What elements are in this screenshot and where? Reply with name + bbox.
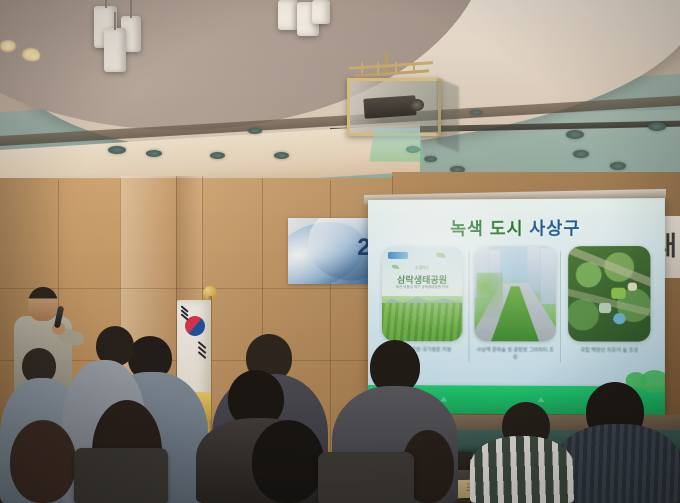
pendant-rod <box>105 0 107 8</box>
projector-rung <box>413 62 415 74</box>
card-facility-lot <box>599 303 611 313</box>
recessed-downlight <box>146 150 162 157</box>
pendant-cylinder-light <box>312 0 330 24</box>
projector-assembly <box>341 60 441 132</box>
pendant-cylinder-light <box>278 0 298 30</box>
slide-card-row: 소생하는 삼락생태공원 부산 낙동강 하구 삼락생태공원 안내 <box>382 246 650 346</box>
slide-title: 녹색 도시 사상구 <box>368 213 665 240</box>
card-logo-bar <box>388 252 408 259</box>
wall-panel-seam <box>0 288 392 289</box>
grass-tuft-icon <box>538 397 545 402</box>
projector-shadow <box>437 78 459 153</box>
slide-title-dark: 사상구 <box>524 219 581 238</box>
photo-scene: 20 대 녹색 도시 사상구 소생하는 삼락생태공원 부산 낙동강 하 <box>0 0 680 503</box>
projector-rung <box>361 62 363 74</box>
slide-card-forest-masterplan <box>568 246 650 342</box>
audience-shoulder <box>556 424 680 503</box>
card-caption: 국립 백양산 치유의 숲 조성 <box>568 348 650 375</box>
chair-back <box>74 448 168 503</box>
recessed-downlight <box>210 152 225 159</box>
recessed-downlight <box>274 152 289 159</box>
pendant-cylinder-light <box>104 28 126 72</box>
chair-back <box>318 452 414 503</box>
recessed-downlight <box>648 122 666 131</box>
recessed-downlight <box>248 128 262 134</box>
recessed-downlight <box>108 146 126 154</box>
slide-title-green: 녹색 도시 <box>450 219 523 238</box>
projector-rung <box>377 62 379 74</box>
card-facility-lot <box>628 282 637 290</box>
projector-mount-stem <box>385 52 388 74</box>
audience-head <box>10 420 76 503</box>
track-spotlight <box>0 40 16 52</box>
audience-head <box>252 420 324 503</box>
projector-body <box>363 95 416 119</box>
projector-rail <box>355 69 429 77</box>
slide-card-green-street <box>475 246 556 341</box>
slide-caption-row: 삼락생태공원 국가정원 지정 사상역 문화숲 및 광장로 그라피티 조성 국립 … <box>382 347 650 374</box>
card-caption: 사상역 문화숲 및 광장로 그라피티 조성 <box>475 347 556 374</box>
card-poster-supertitle: 소생하는 <box>382 265 462 271</box>
projector-cage-housing <box>347 78 441 136</box>
card-poster-subtitle: 부산 낙동강 하구 삼락생태공원 안내 <box>382 285 462 290</box>
projector-rung <box>395 62 397 74</box>
track-spotlight <box>28 52 40 61</box>
recessed-downlight <box>470 110 482 115</box>
slide-card-samnak-eco-park: 소생하는 삼락생태공원 부산 낙동강 하구 삼락생태공원 안내 <box>382 247 462 342</box>
leaf-icon <box>436 253 445 258</box>
recessed-downlight <box>610 162 626 170</box>
pendant-rod <box>130 0 132 18</box>
card-street-trees <box>477 273 503 317</box>
recessed-downlight <box>566 130 584 139</box>
pendant-rod <box>114 12 116 30</box>
card-lotus-field <box>382 303 462 341</box>
recessed-downlight <box>573 150 589 158</box>
projector-lens-icon <box>410 99 424 111</box>
card-facility-lot <box>613 313 625 324</box>
recessed-downlight <box>424 156 437 162</box>
projection-beam <box>369 128 425 162</box>
audience-shoulder <box>470 436 574 503</box>
grass-tuft-icon <box>440 396 447 401</box>
building-block <box>541 248 556 303</box>
card-facility-lot <box>611 288 625 299</box>
presenter-head <box>28 287 58 321</box>
